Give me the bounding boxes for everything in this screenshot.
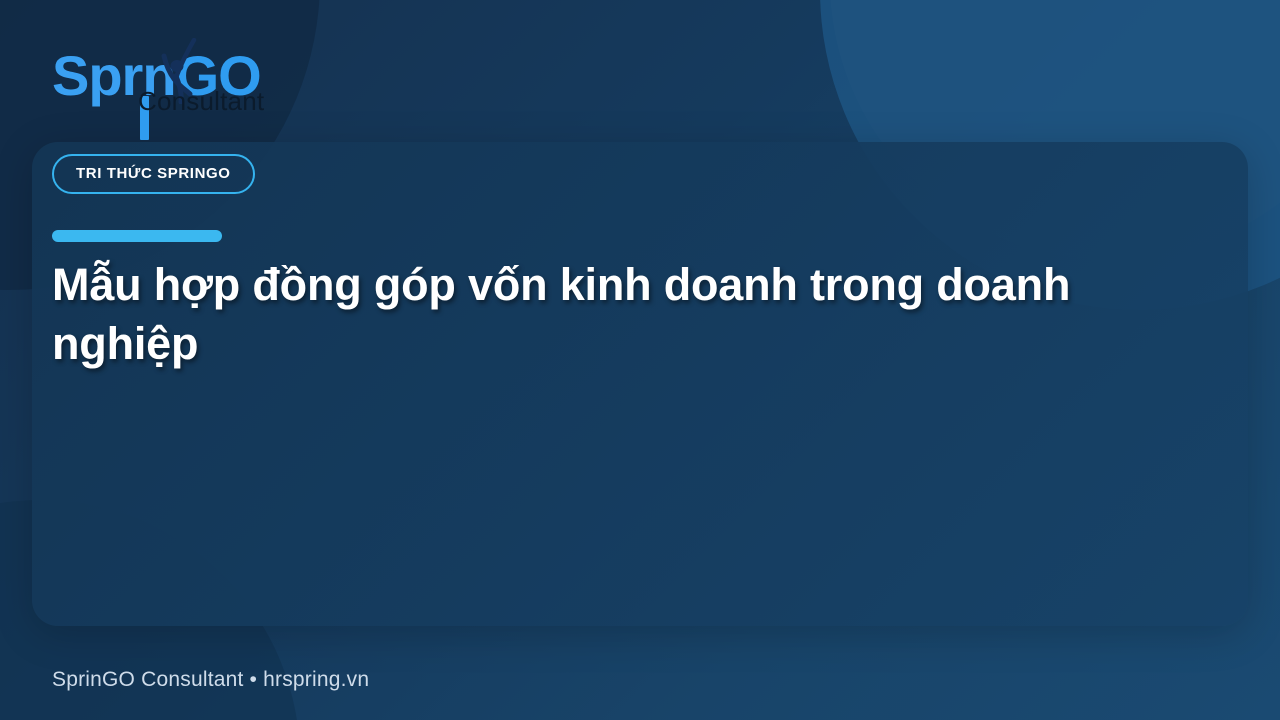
logo-subtitle: Consultant [138,88,264,114]
accent-bar [52,230,222,242]
page-title: Mẫu hợp đồng góp vốn kinh doanh trong do… [52,256,1162,373]
slide-canvas: SprnGO Consultant TRI THỨC SPRINGO Mẫu h… [0,0,1280,720]
logo: SprnGO Consultant [52,48,264,114]
category-badge[interactable]: TRI THỨC SPRINGO [52,154,255,194]
logo-text-spr: Spr [52,44,142,107]
content-card [32,142,1248,626]
footer-attribution: SprinGO Consultant • hrspring.vn [52,668,369,692]
